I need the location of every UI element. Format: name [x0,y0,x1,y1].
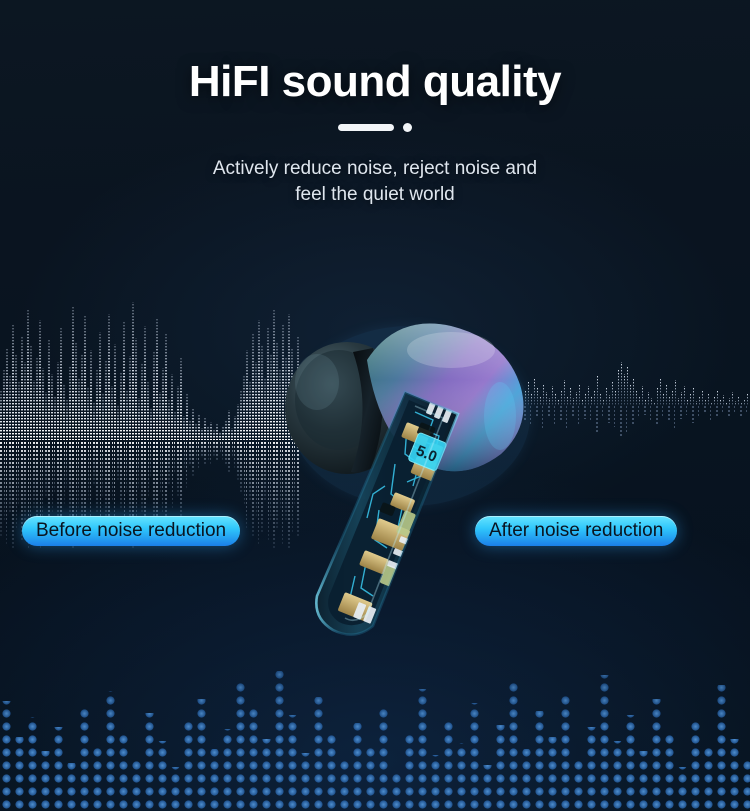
badge-after-noise-reduction[interactable]: After noise reduction [475,516,677,546]
equalizer-columns [0,671,750,811]
waveform-after [524,362,748,436]
badge-before-noise-reduction[interactable]: Before noise reduction [22,516,240,546]
subtitle-line-2: feel the quiet world [0,182,750,209]
earbud-product-image: 5.0 [255,296,555,646]
page-subtitle: Actively reduce noise, reject noise and … [0,156,750,210]
product-marketing-banner: HiFI sound quality Actively reduce noise… [0,0,750,811]
subtitle-line-1: Actively reduce noise, reject noise and [0,156,750,183]
divider [0,122,750,134]
divider-dot-icon [403,123,412,132]
divider-bar-icon [338,124,394,131]
header-block: HiFI sound quality Actively reduce noise… [0,0,750,209]
page-title: HiFI sound quality [0,58,750,106]
